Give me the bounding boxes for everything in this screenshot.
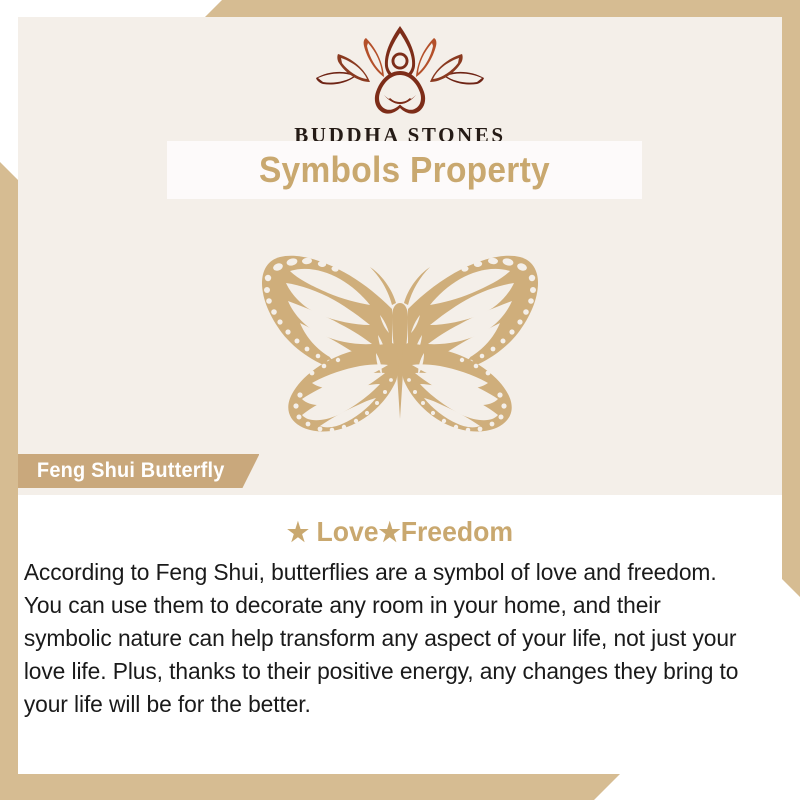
butterfly-icon [230, 223, 570, 453]
gold-frame-right [782, 0, 800, 597]
content-subtitle: ★ Love★Freedom [37, 516, 763, 548]
butterfly-illustration [18, 213, 782, 463]
brand-logo: BUDDHA STONES [18, 17, 782, 142]
gold-frame-bottom [0, 774, 620, 800]
title-banner: Symbols Property [167, 141, 642, 199]
content-card: ★ Love★Freedom According to Feng Shui, b… [18, 495, 782, 774]
lotus-meditation-figure-icon [310, 22, 490, 125]
tag-label: Feng Shui Butterfly [37, 459, 225, 483]
main-panel: BUDDHA STONES Symbols Property [18, 17, 782, 774]
star-icon-left: ★ [287, 517, 309, 547]
content-paragraph: According to Feng Shui, butterflies are … [18, 556, 759, 721]
star-icon-middle: ★ [379, 517, 401, 547]
infographic-page: BUDDHA STONES Symbols Property [0, 0, 800, 800]
subtitle-word-freedom: Freedom [401, 516, 513, 547]
gold-frame-top [205, 0, 800, 17]
gold-frame-left [0, 162, 18, 774]
status-badge: Feng Shui Butterfly [18, 454, 259, 488]
subtitle-word-love: Love [309, 516, 378, 547]
page-title: Symbols Property [259, 149, 550, 191]
